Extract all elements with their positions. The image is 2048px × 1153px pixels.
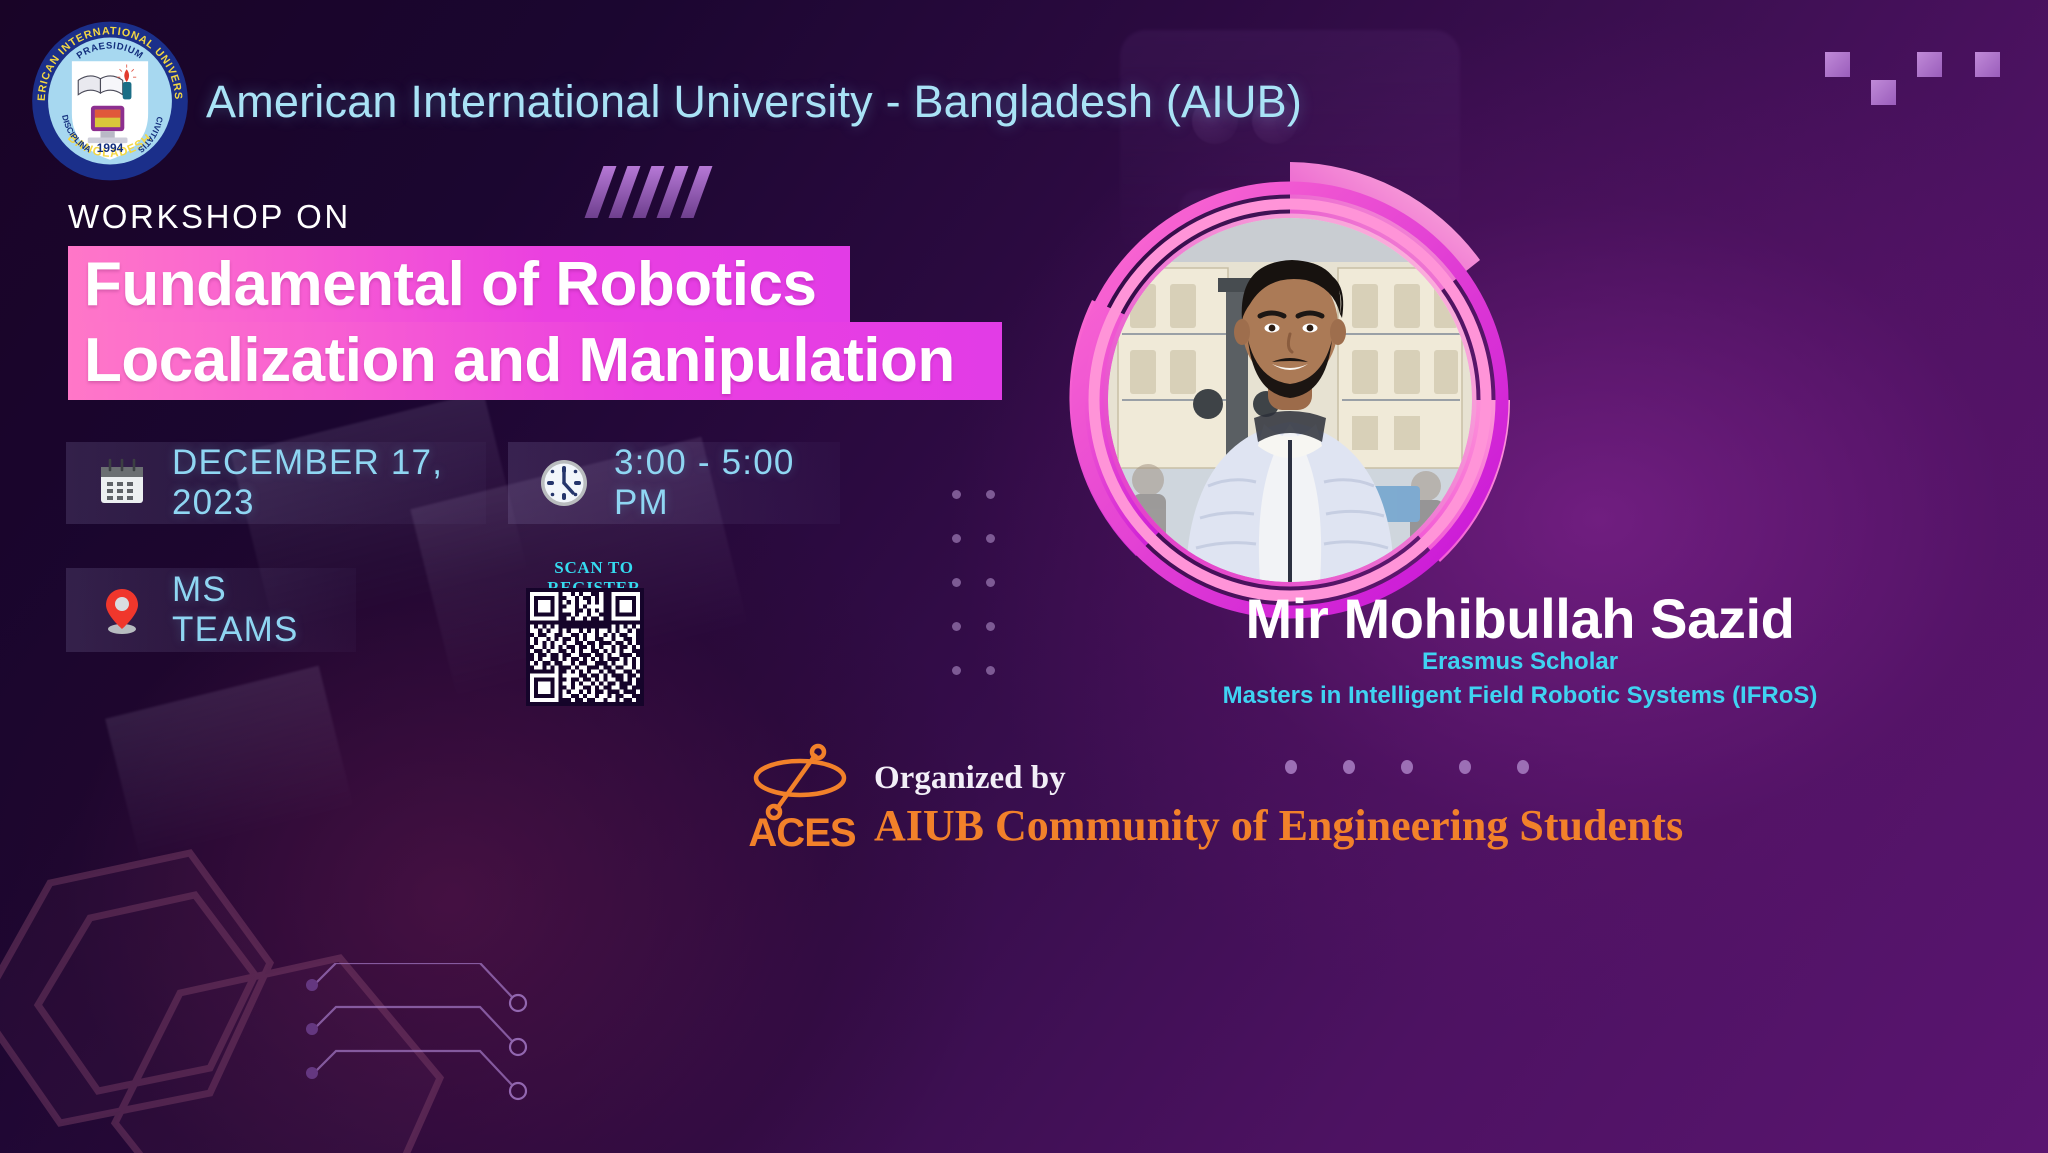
event-title-line2: Localization and Manipulation bbox=[68, 322, 1002, 400]
location-pin-icon bbox=[96, 584, 148, 636]
slash-decor bbox=[594, 166, 704, 218]
speaker-role: Erasmus Scholar bbox=[1000, 648, 2040, 676]
time-text: 3:00 - 5:00 PM bbox=[614, 443, 810, 523]
paper-texture bbox=[105, 666, 355, 865]
date-text: DECEMBER 17, 2023 bbox=[172, 443, 456, 523]
university-name: American International University - Bang… bbox=[206, 76, 1302, 128]
decor-square bbox=[1871, 80, 1896, 105]
speaker-photo bbox=[1108, 218, 1472, 582]
event-title-line1-text: Fundamental of Robotics bbox=[84, 254, 817, 316]
clock-icon bbox=[538, 457, 590, 509]
place-text: MS TEAMS bbox=[172, 570, 326, 650]
circuit-trace-decor bbox=[300, 963, 680, 1143]
aces-logo: ACES bbox=[742, 742, 870, 854]
aces-logo-text: ACES bbox=[748, 811, 855, 854]
logo-year-text: 1994 bbox=[97, 141, 124, 155]
event-poster: AMERICAN INTERNATIONAL UNIVERSITY BANGLA… bbox=[0, 0, 2048, 1153]
qr-code[interactable] bbox=[526, 588, 644, 706]
time-chip: 3:00 - 5:00 PM bbox=[508, 442, 840, 524]
decor-square bbox=[1975, 52, 2000, 77]
calendar-icon bbox=[96, 457, 148, 509]
speaker-name: Mir Mohibullah Sazid bbox=[1000, 586, 2040, 651]
date-chip: DECEMBER 17, 2023 bbox=[66, 442, 486, 524]
place-chip: MS TEAMS bbox=[66, 568, 356, 652]
speaker-program: Masters in Intelligent Field Robotic Sys… bbox=[1000, 682, 2040, 710]
event-title-line1: Fundamental of Robotics bbox=[68, 246, 850, 324]
organized-by-label: Organized by bbox=[874, 760, 1066, 797]
aiub-logo: AMERICAN INTERNATIONAL UNIVERSITY BANGLA… bbox=[30, 20, 190, 182]
event-title-line2-text: Localization and Manipulation bbox=[84, 330, 955, 392]
decor-square bbox=[1825, 52, 1850, 77]
event-kicker: WORKSHOP ON bbox=[68, 198, 351, 236]
decor-square bbox=[1917, 52, 1942, 77]
dot-row-decor bbox=[1285, 760, 1525, 790]
organizer-name: AIUB Community of Engineering Students bbox=[874, 800, 1683, 851]
